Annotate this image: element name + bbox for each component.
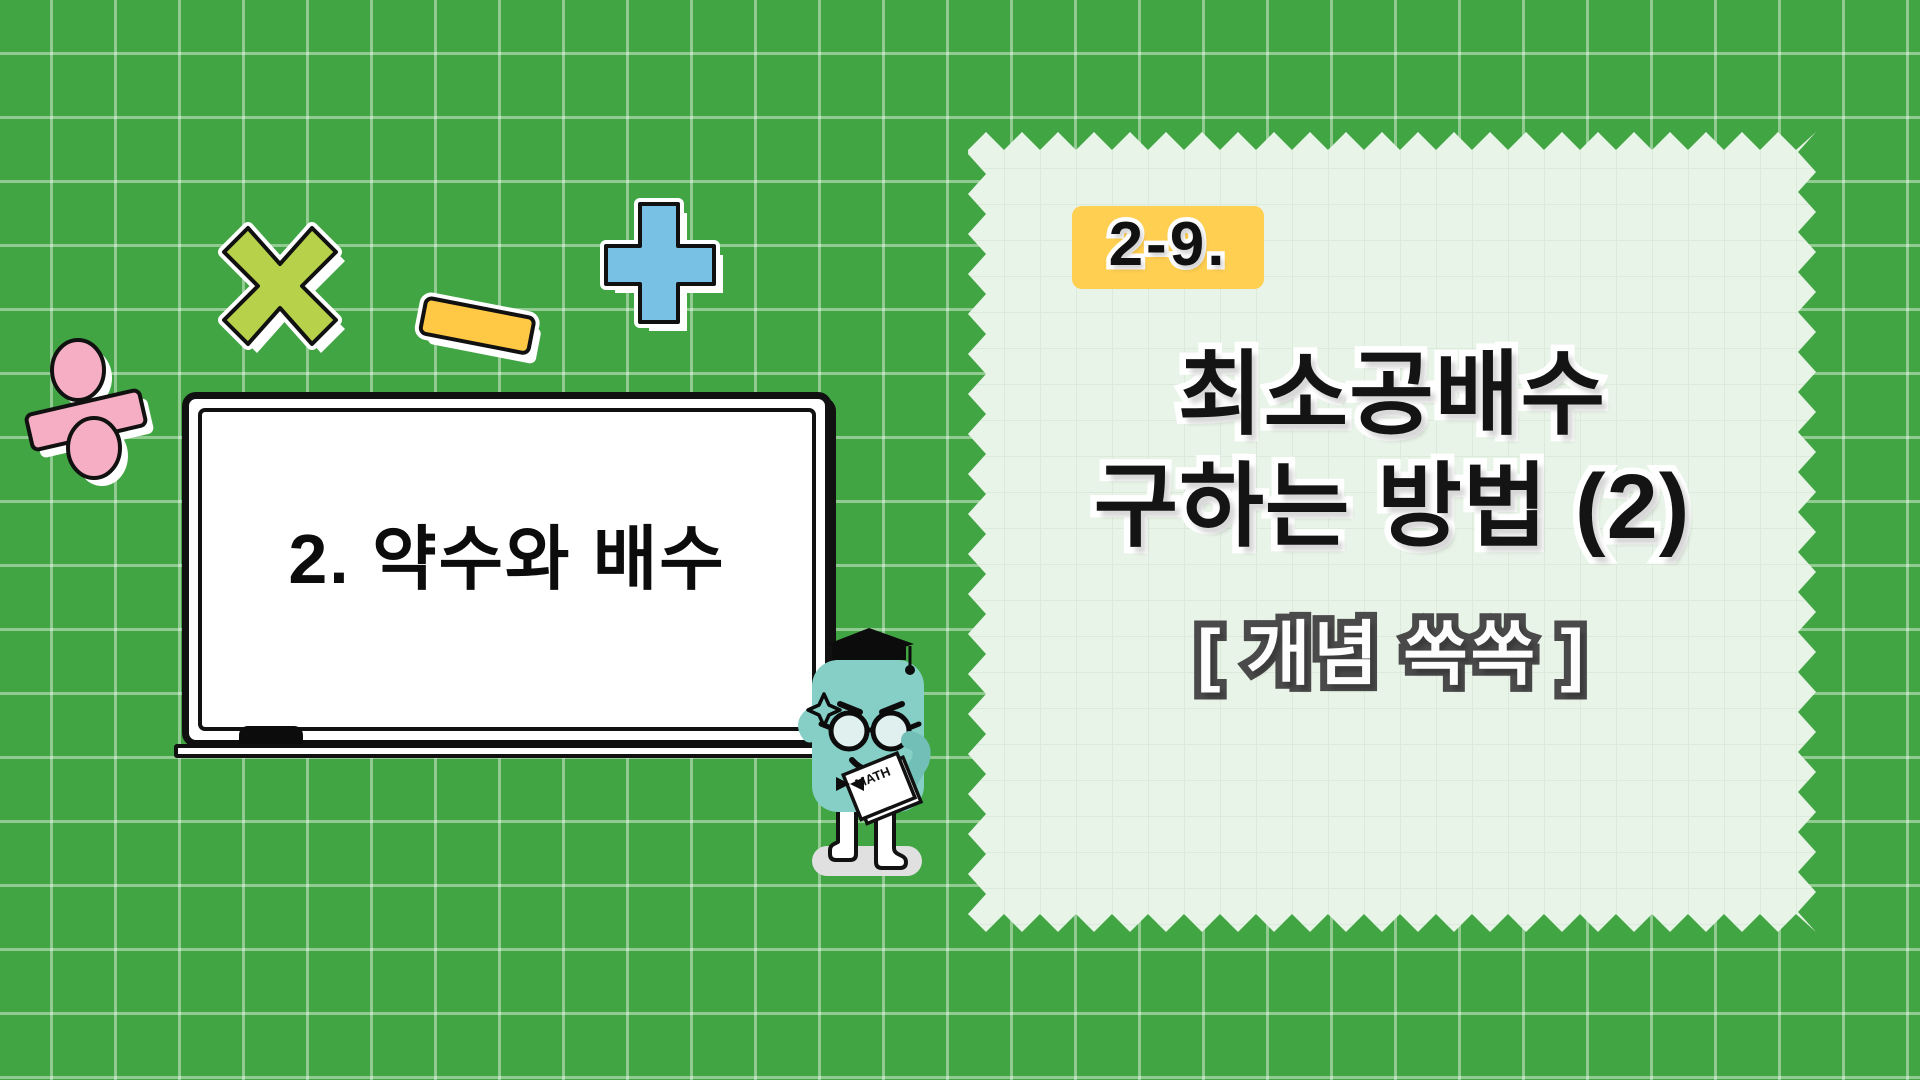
whiteboard-ledge — [174, 744, 842, 758]
lesson-number-label: 2-9. — [1109, 210, 1228, 279]
concept-title: 최소공배수 구하는 방법 (2) — [1094, 339, 1691, 563]
concept-subtitle: [ 개념 쏙쏙 ] — [1197, 598, 1587, 699]
multiply-symbol — [218, 222, 348, 352]
whiteboard: 2. 약수와 배수 — [182, 392, 842, 777]
concept-title-line-1: 최소공배수 — [1094, 339, 1691, 451]
minus-symbol — [414, 282, 544, 372]
math-professor-character: MATH — [790, 608, 970, 883]
whiteboard-frame: 2. 약수와 배수 — [182, 392, 832, 747]
whiteboard-title: 2. 약수와 배수 — [189, 503, 825, 604]
mascot-leg-left — [830, 806, 856, 860]
concept-panel: 2-9. 최소공배수 구하는 방법 (2) [ 개념 쏙쏙 ] — [968, 132, 1816, 932]
plus-symbol — [600, 198, 725, 328]
lesson-number-badge: 2-9. — [1072, 206, 1264, 289]
divide-symbol — [18, 340, 168, 480]
concept-title-line-2: 구하는 방법 (2) — [1094, 451, 1691, 563]
